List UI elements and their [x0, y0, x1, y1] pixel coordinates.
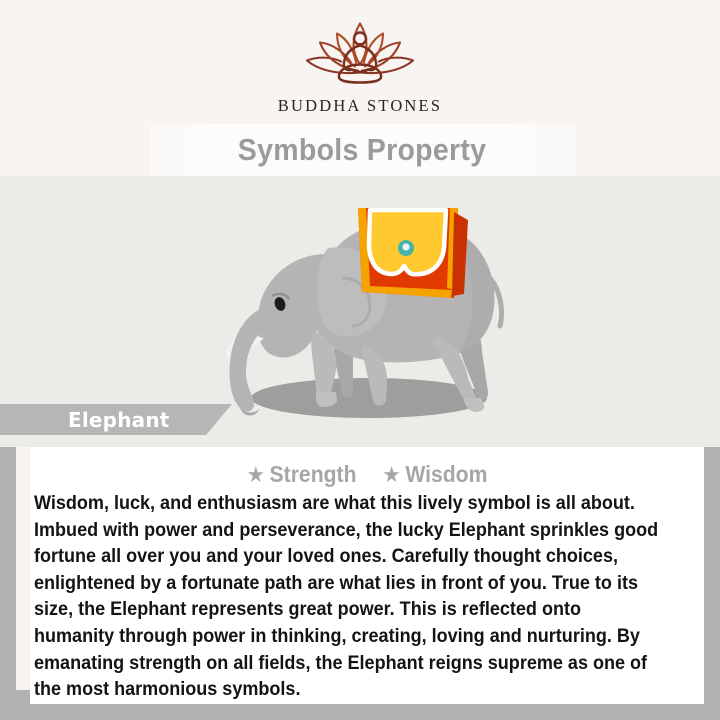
saddle-gem-highlight — [402, 243, 409, 250]
trait-wisdom-label: Wisdom — [405, 461, 487, 488]
traits-row: ★ Strength ★ Wisdom — [30, 461, 704, 488]
trait-strength: ★ Strength — [247, 461, 357, 488]
title-banner: Symbols Property — [150, 124, 575, 176]
ribbon-label-text: Elephant — [68, 408, 170, 432]
star-icon: ★ — [247, 464, 265, 486]
infographic-page: BUDDHA STONES Symbols Property — [0, 0, 720, 720]
trait-wisdom: ★ Wisdom — [382, 461, 487, 488]
ground-shadow-ellipse — [251, 378, 487, 418]
description-panel: ★ Strength ★ Wisdom Wisdom, luck, and en… — [30, 447, 704, 704]
elephant-near-hind-foot — [464, 398, 484, 412]
lotus-meditation-icon — [285, 16, 435, 92]
elephant-illustration — [206, 186, 516, 441]
logo-block: BUDDHA STONES — [0, 16, 720, 116]
page-title: Symbols Property — [238, 132, 487, 168]
description-text: Wisdom, luck, and enthusiasm are what th… — [34, 491, 662, 704]
star-icon: ★ — [382, 464, 400, 486]
trait-strength-label: Strength — [270, 461, 357, 488]
elephant-ribbon-label: Elephant — [0, 404, 232, 435]
brand-name: BUDDHA STONES — [278, 96, 442, 116]
